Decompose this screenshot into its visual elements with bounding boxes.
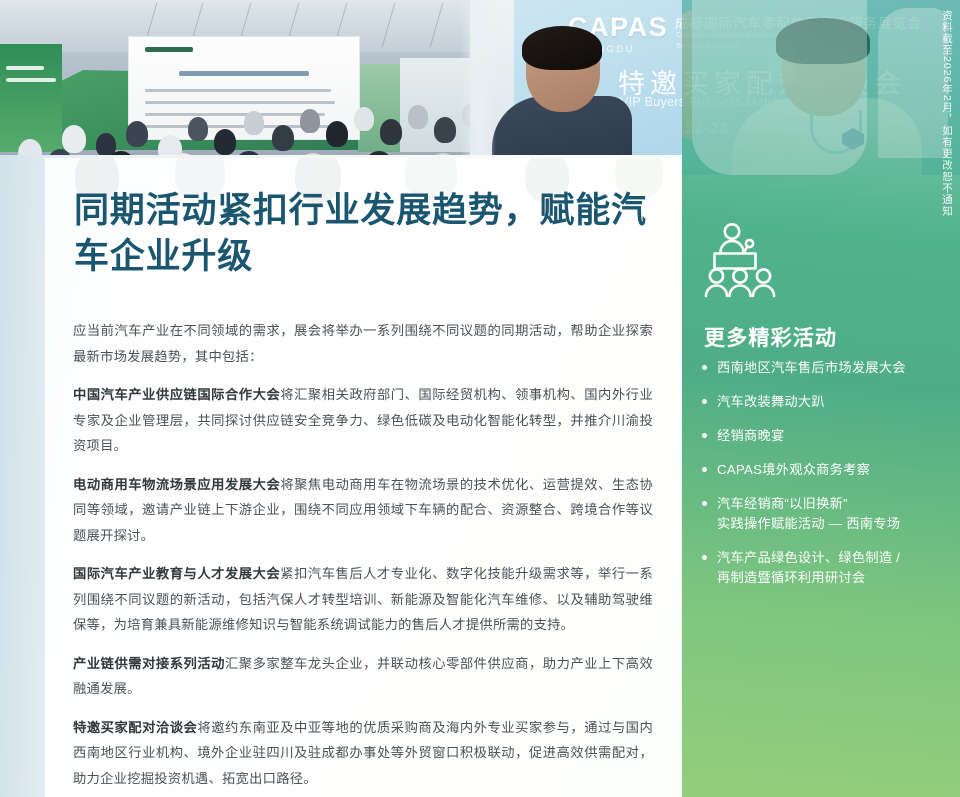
section-paragraph-3: 国际汽车产业教育与人才发展大会紧扣汽车售后人才专业化、数字化技能升级需求等，举行… [73, 561, 653, 638]
section-paragraph-2: 电动商用车物流场景应用发展大会将聚焦电动商用车在物流场景的技术优化、运营提效、生… [73, 472, 653, 549]
section-lead-3: 国际汽车产业教育与人才发展大会 [73, 566, 280, 581]
list-item-line2: 再制造暨循环利用研讨会 [717, 568, 950, 588]
presenter-podium-audience-icon [704, 222, 778, 298]
body-content: 应当前汽车产业在不同领域的需求，展会将举办一系列围绕不同议题的同期活动，帮助企业… [73, 318, 653, 797]
section-lead-5: 特邀买家配对洽谈会 [73, 720, 197, 735]
list-item-line1: CAPAS境外观众商务考察 [717, 462, 870, 477]
sidebar-heading: 更多精彩活动 [704, 322, 934, 352]
section-paragraph-1: 中国汽车产业供应链国际合作大会将汇聚相关政府部门、国际经贸机构、领事机构、国内外… [73, 382, 653, 459]
section-lead-4: 产业链供需对接系列活动 [73, 656, 225, 671]
list-item[interactable]: 经销商晚宴 [700, 426, 950, 446]
panel-ghost-shirt [692, 0, 867, 175]
disclaimer-vertical-note: 资料截至2026年2月，如有更改恕不通知 [937, 10, 955, 217]
intro-paragraph: 应当前汽车产业在不同领域的需求，展会将举办一系列围绕不同议题的同期活动，帮助企业… [73, 318, 653, 369]
list-item-line2: 实践操作赋能活动 — 西南专场 [717, 514, 950, 534]
list-item[interactable]: 汽车改装舞动大趴 [700, 392, 950, 412]
list-item-line1: 汽车产品绿色设计、绿色制造 / [717, 550, 900, 565]
list-item[interactable]: CAPAS境外观众商务考察 [700, 460, 950, 480]
poster-page: CAPAS CHENGDU 成都国际汽车零配件及售后服务展览会 Chengdu … [0, 0, 960, 797]
list-item-line1: 经销商晚宴 [717, 428, 784, 443]
list-item[interactable]: 汽车经销商“以旧换新” 实践操作赋能活动 — 西南专场 [700, 494, 950, 534]
section-lead-1: 中国汽车产业供应链国际合作大会 [73, 387, 280, 402]
section-paragraph-4: 产业链供需对接系列活动汇聚多家整车龙头企业，并联动核心零部件供应商，助力产业上下… [73, 651, 653, 702]
panel-photo-underlay [682, 0, 960, 200]
more-events-list: 西南地区汽车售后市场发展大会 汽车改装舞动大趴 经销商晚宴 CAPAS境外观众商… [700, 358, 950, 603]
list-item-line1: 汽车改装舞动大趴 [717, 394, 825, 409]
section-paragraph-5: 特邀买家配对洽谈会将邀约东南亚及中亚等地的优质采购商及海内外专业买家参与，通过与… [73, 715, 653, 792]
list-item-line1: 汽车经销商“以旧换新” [717, 496, 848, 511]
section-lead-2: 电动商用车物流场景应用发展大会 [73, 477, 280, 492]
list-item-line1: 西南地区汽车售后市场发展大会 [717, 360, 906, 375]
panel-ghost-badge [768, 48, 794, 84]
list-item[interactable]: 汽车产品绿色设计、绿色制造 / 再制造暨循环利用研讨会 [700, 548, 950, 588]
list-item[interactable]: 西南地区汽车售后市场发展大会 [700, 358, 950, 378]
photo-seam-fade [460, 0, 496, 175]
visitor-left-hair [522, 26, 602, 70]
conference-hall-photo [0, 0, 496, 175]
page-title: 同期活动紧扣行业发展趋势，赋能汽车企业升级 [74, 188, 654, 279]
